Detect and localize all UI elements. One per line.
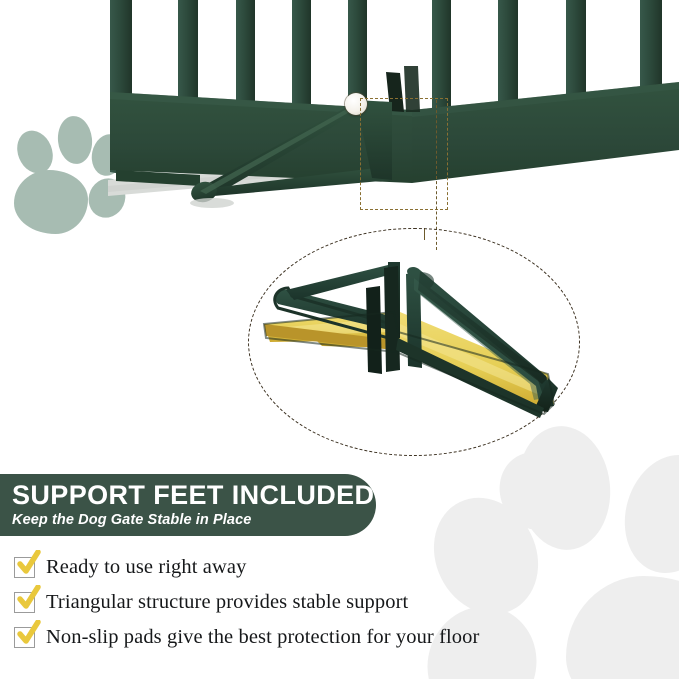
feature-list: Ready to use right away Triangular struc… bbox=[14, 552, 654, 657]
list-item: Ready to use right away bbox=[14, 552, 654, 583]
gate-structure-svg bbox=[0, 0, 679, 240]
banner-subtitle: Keep the Dog Gate Stable in Place bbox=[12, 512, 376, 528]
paw-print-gray-small-icon bbox=[500, 452, 620, 532]
promo-banner: SUPPORT FEET INCLUDED Keep the Dog Gate … bbox=[0, 474, 376, 536]
checkbox-checked bbox=[14, 627, 35, 648]
checkbox-checked bbox=[14, 557, 35, 578]
checkmark-icon bbox=[16, 620, 42, 646]
list-item: Non-slip pads give the best protection f… bbox=[14, 622, 654, 653]
feature-label: Triangular structure provides stable sup… bbox=[46, 591, 408, 614]
feature-label: Ready to use right away bbox=[46, 556, 246, 579]
product-photo-dog-gate bbox=[0, 0, 679, 240]
list-item: Triangular structure provides stable sup… bbox=[14, 587, 654, 618]
checkmark-icon bbox=[16, 585, 42, 611]
feature-label: Non-slip pads give the best protection f… bbox=[46, 626, 479, 649]
callout-highlight-box bbox=[360, 98, 448, 210]
support-foot-detail-illustration bbox=[248, 228, 578, 454]
checkbox-checked bbox=[14, 592, 35, 613]
banner-title: SUPPORT FEET INCLUDED bbox=[12, 482, 376, 510]
product-marketing-image: SUPPORT FEET INCLUDED Keep the Dog Gate … bbox=[0, 0, 679, 679]
checkmark-icon bbox=[16, 550, 42, 576]
